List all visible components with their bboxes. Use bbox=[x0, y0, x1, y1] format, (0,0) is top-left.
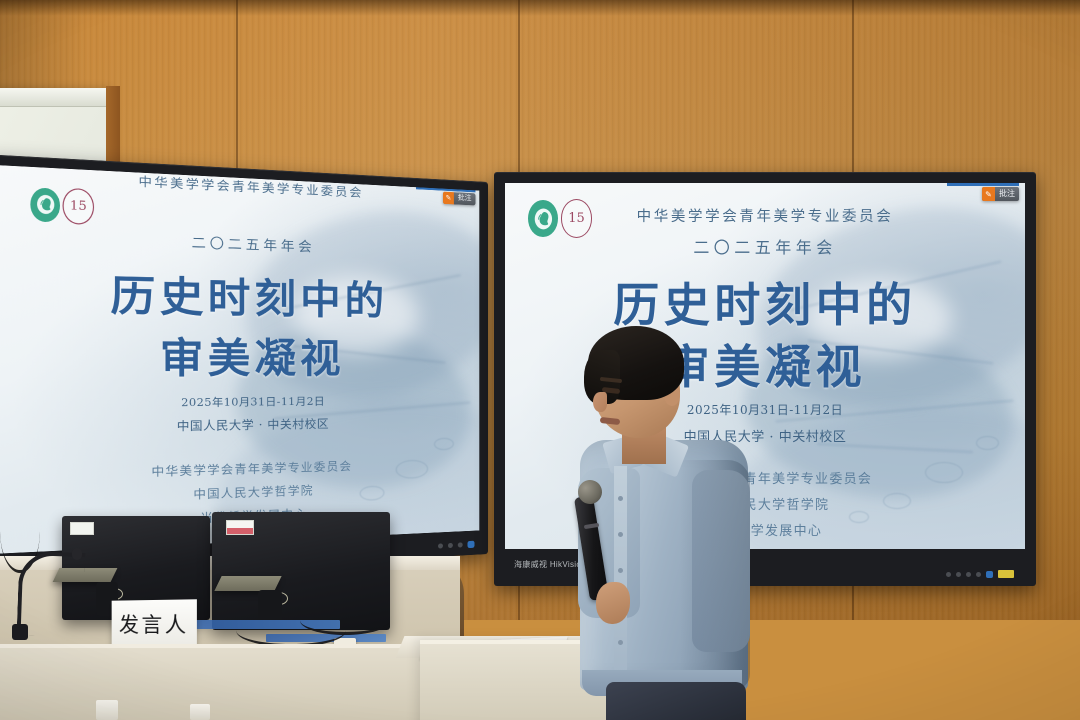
desk-front-panel bbox=[0, 644, 460, 720]
whiteboard-top-cap bbox=[0, 88, 106, 107]
monitor-left-sticker bbox=[70, 522, 94, 535]
right-annotate-toolbar[interactable]: ✎ 批注 bbox=[982, 187, 1019, 201]
left-annotate-toolbar[interactable]: ✎ 批注 bbox=[443, 192, 475, 206]
speaker-person bbox=[560, 320, 775, 720]
speaker-name-card: 发言人 bbox=[112, 599, 197, 648]
slide-title-line-1: 历史时刻中的 bbox=[0, 258, 479, 327]
speaker-jeans bbox=[606, 682, 746, 720]
desk-cup bbox=[96, 700, 118, 720]
left-display-screen[interactable]: 15 中华美学学会青年美学专业委员会 二〇二五年年会 历史时刻中的 审美凝视 2… bbox=[0, 165, 479, 553]
desk-cup bbox=[190, 704, 210, 720]
slide-logo-group: 15 bbox=[30, 186, 94, 225]
slide-org-line: 中华美学学会青年美学专业委员会 bbox=[505, 205, 1025, 226]
wall-top-shadow bbox=[0, 0, 1080, 16]
right-display-bezel-buttons[interactable] bbox=[946, 570, 1014, 578]
slide-venue-line: 中国人民大学 · 中关村校区 bbox=[0, 413, 479, 438]
speaker-name-card-label: 发言人 bbox=[119, 609, 189, 640]
slide-canvas: 15 中华美学学会青年美学专业委员会 二〇二五年年会 历史时刻中的 审美凝视 2… bbox=[0, 165, 479, 553]
monitor-right-stand bbox=[214, 576, 281, 591]
slide-title-line-2: 审美凝视 bbox=[0, 322, 479, 385]
annotate-pen-icon[interactable]: ✎ bbox=[443, 192, 454, 205]
annotate-accent-bar bbox=[947, 183, 1019, 186]
gooseneck-microphone-base bbox=[12, 624, 28, 640]
shirt-shading bbox=[680, 460, 750, 690]
annotate-label[interactable]: 批注 bbox=[995, 187, 1019, 201]
speaker-mouth bbox=[600, 417, 621, 425]
speaker-hand bbox=[596, 582, 630, 624]
green-profile-emblem-icon bbox=[30, 187, 60, 222]
annotate-label[interactable]: 批注 bbox=[454, 192, 476, 205]
speaker-nose bbox=[593, 392, 607, 412]
cable bbox=[300, 606, 390, 635]
slide-year-line: 二〇二五年年会 bbox=[0, 223, 479, 260]
maroon-seal-emblem-icon: 15 bbox=[63, 188, 95, 225]
gooseneck-microphone-head bbox=[72, 548, 82, 560]
annotate-pen-icon[interactable]: ✎ bbox=[982, 187, 995, 201]
maroon-seal-label: 15 bbox=[70, 199, 87, 214]
slide-date-line: 2025年10月31日-11月2日 bbox=[0, 391, 479, 411]
monitor-right-sticker bbox=[226, 520, 254, 535]
photo-scene: 15 中华美学学会青年美学专业委员会 二〇二五年年会 历史时刻中的 审美凝视 2… bbox=[0, 0, 1080, 720]
slide-year-line: 二〇二五年年会 bbox=[505, 234, 1025, 258]
